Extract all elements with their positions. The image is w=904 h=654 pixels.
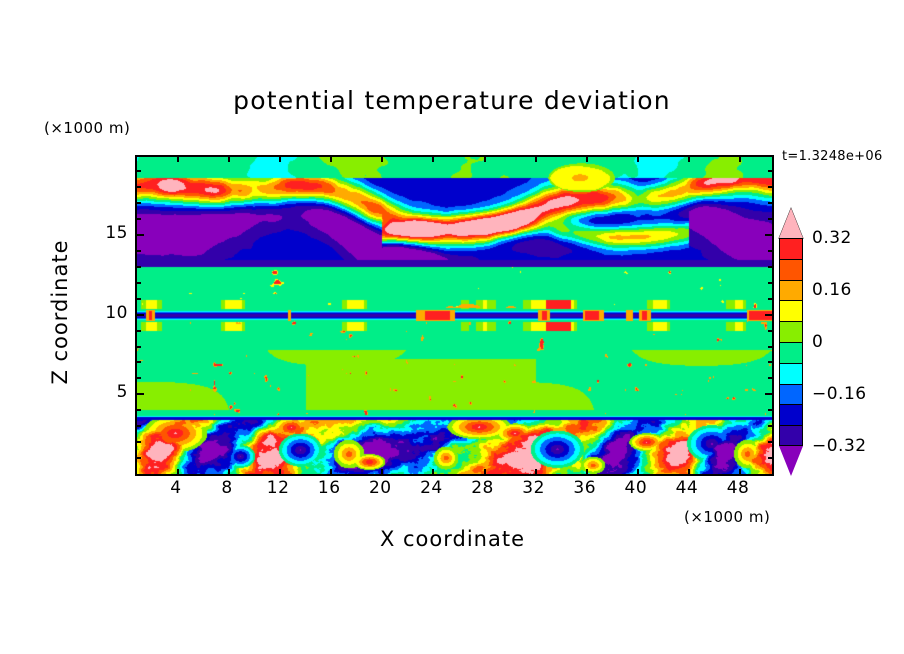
colorbar-tick-label: 0.16 (812, 280, 852, 300)
x-axis-tick (432, 155, 434, 162)
x-axis-tick-label: 16 (318, 478, 341, 498)
y-axis-tick (135, 393, 144, 395)
x-axis-tick-label: 24 (420, 478, 443, 498)
colorbar-band (779, 238, 803, 259)
y-axis-tick-label: 5 (117, 382, 128, 402)
y-axis-tick (768, 377, 774, 379)
x-axis-tick-label: 32 (522, 478, 545, 498)
y-axis-tick (768, 457, 774, 459)
x-axis-tick (586, 155, 588, 162)
y-axis-tick (768, 266, 774, 268)
x-axis-tick-label: 8 (221, 478, 232, 498)
time-annotation: t=1.3248e+06 (782, 149, 883, 164)
colorbar (779, 208, 803, 476)
x-axis-tick (279, 155, 281, 162)
y-axis-tick (768, 186, 774, 188)
x-axis-tick (637, 469, 639, 476)
y-axis-tick (135, 377, 141, 379)
y-axis-tick-label: 10 (105, 303, 128, 323)
colorbar-band (779, 300, 803, 321)
y-axis-tick (768, 441, 774, 443)
x-axis-tick (228, 155, 230, 162)
contour-plot-area (135, 155, 774, 476)
colorbar-band (779, 321, 803, 342)
colorbar-band (779, 425, 803, 446)
colorbar-tick-label: −0.16 (812, 384, 867, 404)
y-axis-tick (768, 170, 774, 172)
y-axis-tick (765, 314, 774, 316)
y-axis-tick (135, 441, 141, 443)
y-axis-tick (135, 234, 144, 236)
y-axis-tick (768, 361, 774, 363)
y-axis-tick (768, 330, 774, 332)
colorbar-band (779, 259, 803, 280)
y-axis-tick (135, 361, 141, 363)
x-axis-tick (484, 155, 486, 162)
x-axis-tick (586, 469, 588, 476)
y-axis-tick (135, 266, 141, 268)
colorbar-band (779, 280, 803, 301)
y-axis-tick (135, 282, 141, 284)
x-axis-tick (739, 155, 741, 162)
y-axis-tick (135, 457, 141, 459)
y-axis-tick (135, 170, 141, 172)
x-axis-tick (535, 155, 537, 162)
colorbar-band (779, 384, 803, 405)
x-axis-tick (535, 469, 537, 476)
colorbar-over-cap (779, 208, 803, 238)
x-axis-tick-label: 4 (170, 478, 181, 498)
y-axis-units-label: (×1000 m) (44, 119, 130, 137)
x-axis-tick (637, 155, 639, 162)
x-axis-tick-label: 44 (676, 478, 699, 498)
y-axis-tick (768, 250, 774, 252)
x-axis-tick (177, 155, 179, 162)
colorbar-tick-label: −0.32 (812, 436, 867, 456)
x-axis-tick (739, 469, 741, 476)
x-axis-tick (228, 469, 230, 476)
figure-root: potential temperature deviation (×1000 m… (0, 0, 904, 654)
colorbar-band (779, 342, 803, 363)
colorbar-band (779, 363, 803, 384)
y-axis-tick (135, 298, 141, 300)
y-axis-tick (768, 298, 774, 300)
x-axis-tick (330, 469, 332, 476)
y-axis-tick (768, 282, 774, 284)
colorbar-band (779, 404, 803, 425)
x-axis-tick (381, 469, 383, 476)
x-axis-tick-label: 28 (471, 478, 494, 498)
x-axis-tick-label: 48 (727, 478, 750, 498)
y-axis-tick (135, 314, 144, 316)
colorbar-under-cap (779, 446, 803, 476)
x-axis-tick (688, 155, 690, 162)
y-axis-tick (768, 425, 774, 427)
y-axis-label: Z coordinate (48, 212, 72, 412)
y-axis-tick (135, 218, 141, 220)
x-axis-tick-label: 20 (369, 478, 392, 498)
x-axis-tick (279, 469, 281, 476)
y-axis-tick (135, 346, 141, 348)
x-axis-tick (432, 469, 434, 476)
y-axis-tick (768, 409, 774, 411)
x-axis-label: X coordinate (135, 527, 770, 551)
y-axis-tick (768, 346, 774, 348)
y-axis-tick (135, 202, 141, 204)
y-axis-tick (135, 425, 141, 427)
colorbar-tick-label: 0 (812, 332, 823, 352)
x-axis-tick (381, 155, 383, 162)
x-axis-tick (484, 469, 486, 476)
x-axis-tick-label: 40 (625, 478, 648, 498)
x-axis-tick-label: 12 (267, 478, 290, 498)
y-axis-tick (765, 234, 774, 236)
colorbar-tick-label: 0.32 (812, 228, 852, 248)
x-axis-tick-label: 36 (573, 478, 596, 498)
x-axis-tick (330, 155, 332, 162)
contour-field-canvas (137, 157, 772, 474)
y-axis-tick-label: 15 (105, 223, 128, 243)
y-axis-tick (135, 186, 141, 188)
x-axis-tick (688, 469, 690, 476)
y-axis-tick (135, 409, 141, 411)
y-axis-tick (135, 250, 141, 252)
x-axis-tick (177, 469, 179, 476)
y-axis-tick (768, 202, 774, 204)
y-axis-tick (768, 218, 774, 220)
x-axis-units-label: (×1000 m) (684, 508, 770, 526)
chart-title: potential temperature deviation (0, 86, 904, 115)
y-axis-tick (765, 393, 774, 395)
y-axis-tick (135, 330, 141, 332)
